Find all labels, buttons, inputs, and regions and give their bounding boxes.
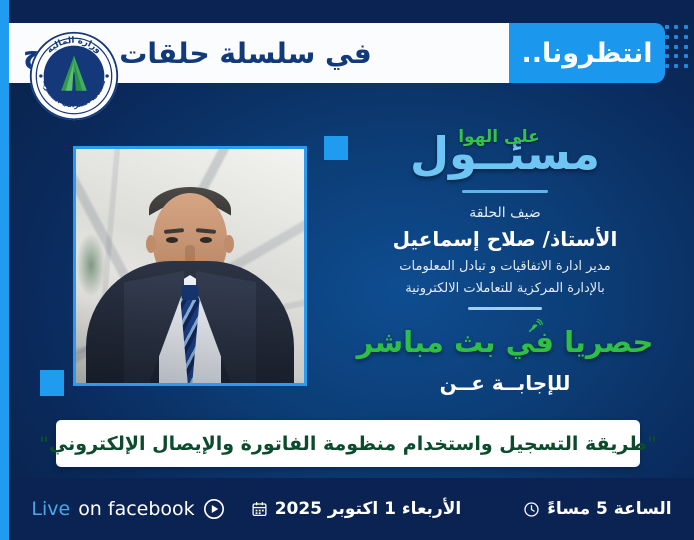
guest-role-line-1: مدير ادارة الاتفاقيات و تبادل المعلومات <box>330 257 680 276</box>
left-accent-strip <box>0 0 9 540</box>
satellite-broadcast-icon <box>527 318 543 334</box>
top-navy-band <box>0 0 694 23</box>
program-title-sub: على الهوا <box>458 127 540 147</box>
calendar-icon <box>251 500 268 518</box>
egyptian-tax-authority-logo: وزارة المالية مصلحة الضرائب المصرية <box>28 30 120 122</box>
live-headline: حصريا في بث مباشر <box>330 322 680 362</box>
event-time-text: الساعة 5 مساءً <box>547 499 671 519</box>
play-circle-icon[interactable] <box>203 498 225 520</box>
clock-icon <box>523 501 540 518</box>
event-time: الساعة 5 مساءً <box>523 499 671 519</box>
title-divider <box>462 190 548 193</box>
guest-divider <box>468 307 542 310</box>
topic-banner: "طريقة التسجيل واستخدام منظومة الفاتورة … <box>56 420 640 467</box>
poster-canvas: في سلسلة حلقات برنامج انتظرونا.. وزارة ا… <box>0 0 694 540</box>
live-headline-text: حصريا في بث مباشر <box>357 325 654 359</box>
guest-name: الأستاذ/ صلاح إسماعيل <box>330 224 680 254</box>
accent-square-bottom-left <box>40 370 64 396</box>
event-date: الأربعاء 1 اكتوبر 2025 <box>251 499 462 519</box>
event-date-text: الأربعاء 1 اكتوبر 2025 <box>275 499 462 519</box>
program-info-column: مسئــول على الهوا ضيف الحلقة الأستاذ/ صل… <box>330 125 680 398</box>
program-title-block: مسئــول على الهوا <box>330 125 680 183</box>
facebook-rest-text: on facebook <box>78 498 195 520</box>
guest-photo <box>73 146 307 386</box>
guest-label: ضيف الحلقة <box>330 203 680 223</box>
topic-text: "طريقة التسجيل واستخدام منظومة الفاتورة … <box>39 433 657 455</box>
facebook-live-word: Live <box>31 498 70 520</box>
footer-bar: الساعة 5 مساءً الأربعاء 1 اكتوبر 2025 Li… <box>9 478 694 540</box>
live-subline: للإجابــة عــن <box>330 368 680 398</box>
guest-role-line-2: بالإدارة المركزية للتعاملات الالكترونية <box>330 279 680 298</box>
dot-grid-icon <box>662 25 688 71</box>
facebook-live-label[interactable]: Live on facebook <box>31 498 224 520</box>
header-badge: انتظرونا.. <box>509 23 665 83</box>
